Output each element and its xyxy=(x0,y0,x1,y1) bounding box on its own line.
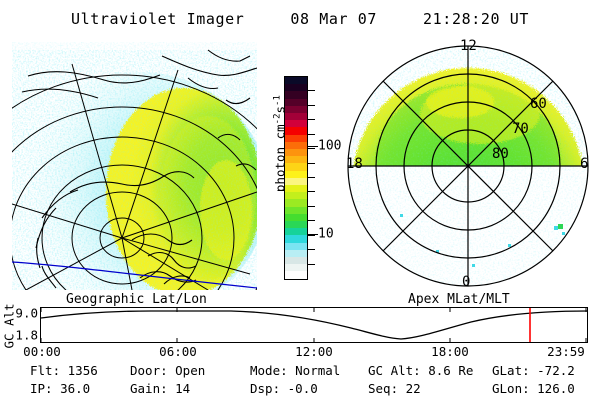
gc-alt-tick-labels: 9.0 1.8 xyxy=(0,307,38,343)
status-row-1: Flt: 1356Door: OpenMode: NormalGC Alt: 8… xyxy=(0,363,600,380)
status-field-key: Flt: xyxy=(30,363,68,378)
status-field: Flt: 1356 xyxy=(30,363,98,378)
colorbar-swatch xyxy=(285,127,307,134)
colorbar-swatch xyxy=(285,149,307,156)
colorbar-swatch xyxy=(285,135,307,142)
colorbar-major-tick xyxy=(308,146,318,147)
status-field: GC Alt: 8.6 Re xyxy=(368,363,473,378)
status-field: Seq: 22 xyxy=(368,381,421,396)
colorbar-minor-tick xyxy=(308,177,315,178)
mlt-label-12: 12 xyxy=(460,38,477,54)
orbit-altitude-curve xyxy=(41,311,587,339)
status-field-key: GC Alt: xyxy=(368,363,428,378)
geographic-panel-subtitle: Geographic Lat/Lon xyxy=(66,292,207,307)
colorbar-minor-tick xyxy=(308,134,315,135)
status-field-value: -0.0 xyxy=(288,381,318,396)
orbit-axis-ticks xyxy=(41,308,586,342)
colorbar-tick-label: 10 xyxy=(318,227,334,242)
status-field-key: GLon: xyxy=(492,381,537,396)
colorbar-minor-tick xyxy=(308,191,315,192)
status-block: Flt: 1356Door: OpenMode: NormalGC Alt: 8… xyxy=(0,363,600,399)
status-field-key: GLat: xyxy=(492,363,537,378)
status-field: Mode: Normal xyxy=(250,363,340,378)
colorbar-swatch xyxy=(285,185,307,192)
colorbar-swatch xyxy=(285,163,307,170)
colorbar-gradient[interactable] xyxy=(284,76,308,280)
colorbar-swatch xyxy=(285,99,307,106)
colorbar-swatch xyxy=(285,199,307,206)
colorbar-swatch xyxy=(285,113,307,120)
colorbar-swatch xyxy=(285,106,307,113)
colorbar-swatch xyxy=(285,235,307,242)
time-tick-3: 18:00 xyxy=(431,344,469,359)
mlt-label-18: 18 xyxy=(346,156,363,172)
colorbar-minor-tick xyxy=(308,148,315,149)
status-field-value: Normal xyxy=(295,363,340,378)
status-field: GLon: 126.0 xyxy=(492,381,575,396)
colorbar-swatch xyxy=(285,192,307,199)
colorbar-swatch xyxy=(285,264,307,271)
status-field-value: Open xyxy=(175,363,205,378)
mlat-label-60: 60 xyxy=(530,96,547,112)
colorbar-swatch xyxy=(285,120,307,127)
colorbar-major-tick xyxy=(308,234,318,235)
status-field-key: Gain: xyxy=(130,381,175,396)
status-field: IP: 36.0 xyxy=(30,381,90,396)
polar-plot-svg xyxy=(340,38,596,294)
status-field-value: -72.2 xyxy=(537,363,575,378)
status-field-key: Seq: xyxy=(368,381,406,396)
colorbar-tick-label: 100 xyxy=(318,138,341,153)
colorbar-minor-tick xyxy=(308,163,315,164)
colorbar-swatch xyxy=(285,228,307,235)
status-field-value: 14 xyxy=(175,381,190,396)
colorbar-swatch xyxy=(285,257,307,264)
status-field: GLat: -72.2 xyxy=(492,363,575,378)
colorbar-minor-tick xyxy=(308,105,315,106)
colorbar-minor-tick xyxy=(308,264,315,265)
gc-alt-tick-low: 1.8 xyxy=(15,328,38,343)
colorbar-swatch xyxy=(285,207,307,214)
status-field-value: 36.0 xyxy=(60,381,90,396)
mlat-label-80: 80 xyxy=(492,146,509,162)
colorbar-swatch xyxy=(285,250,307,257)
colorbar-swatch xyxy=(285,271,307,278)
status-field-value: 1356 xyxy=(68,363,98,378)
geographic-map-svg xyxy=(12,42,257,290)
colorbar-swatch xyxy=(285,178,307,185)
status-field-value: 22 xyxy=(406,381,421,396)
status-field-value: 126.0 xyxy=(537,381,575,396)
status-row-2: IP: 36.0Gain: 14Dsp: -0.0Seq: 22GLon: 12… xyxy=(0,381,600,398)
colorbar-minor-tick xyxy=(308,249,315,250)
time-tick-0: 00:00 xyxy=(23,344,61,359)
status-field: Door: Open xyxy=(130,363,205,378)
colorbar-swatch xyxy=(285,77,307,84)
colorbar-minor-tick xyxy=(308,90,315,91)
colorbar-swatch xyxy=(285,84,307,91)
orbit-altitude-svg xyxy=(41,308,587,342)
status-field-value: 8.6 Re xyxy=(428,363,473,378)
colorbar-minor-tick xyxy=(308,119,315,120)
observation-date: 08 Mar 07 xyxy=(290,10,377,28)
orbit-time-axis: 00:00 06:00 12:00 18:00 23:59 xyxy=(0,344,600,360)
mlt-label-6: 6 xyxy=(580,156,588,172)
colorbar-swatch xyxy=(285,214,307,221)
colorbar-swatch xyxy=(285,142,307,149)
polar-mlt-panel[interactable]: 12 18 6 0 60 70 80 xyxy=(340,38,596,294)
colorbar-swatch xyxy=(285,156,307,163)
colorbar-minor-tick xyxy=(308,206,315,207)
colorbar-swatch xyxy=(285,91,307,98)
time-tick-2: 12:00 xyxy=(295,344,333,359)
geographic-map-panel[interactable] xyxy=(12,42,257,290)
colorbar-label-exp1: -2 xyxy=(272,113,282,124)
status-field-key: Dsp: xyxy=(250,381,288,396)
polar-mlt-spokes xyxy=(348,46,588,286)
status-field-key: Door: xyxy=(130,363,175,378)
status-field-key: IP: xyxy=(30,381,60,396)
colorbar-minor-tick xyxy=(308,220,315,221)
colorbar-swatch xyxy=(285,243,307,250)
colorbar-panel: photon cm-2s-1 10010 xyxy=(258,60,350,292)
time-tick-4: 23:59 xyxy=(547,344,585,359)
colorbar-swatch xyxy=(285,221,307,228)
colorbar-swatch xyxy=(285,171,307,178)
polar-panel-subtitle: Apex MLat/MLT xyxy=(408,292,510,307)
mlat-label-70: 70 xyxy=(512,121,529,137)
status-field: Gain: 14 xyxy=(130,381,190,396)
header-bar: Ultraviolet Imager 08 Mar 07 21:28:20 UT xyxy=(0,6,600,32)
observation-time: 21:28:20 UT xyxy=(423,10,529,28)
orbit-altitude-plot[interactable] xyxy=(40,307,588,343)
instrument-title: Ultraviolet Imager xyxy=(71,10,244,28)
time-tick-1: 06:00 xyxy=(159,344,197,359)
gc-alt-tick-high: 9.0 xyxy=(15,306,38,321)
mlt-label-0: 0 xyxy=(462,274,470,290)
status-field: Dsp: -0.0 xyxy=(250,381,318,396)
status-field-key: Mode: xyxy=(250,363,295,378)
colorbar-label-exp2: -1 xyxy=(272,95,282,106)
